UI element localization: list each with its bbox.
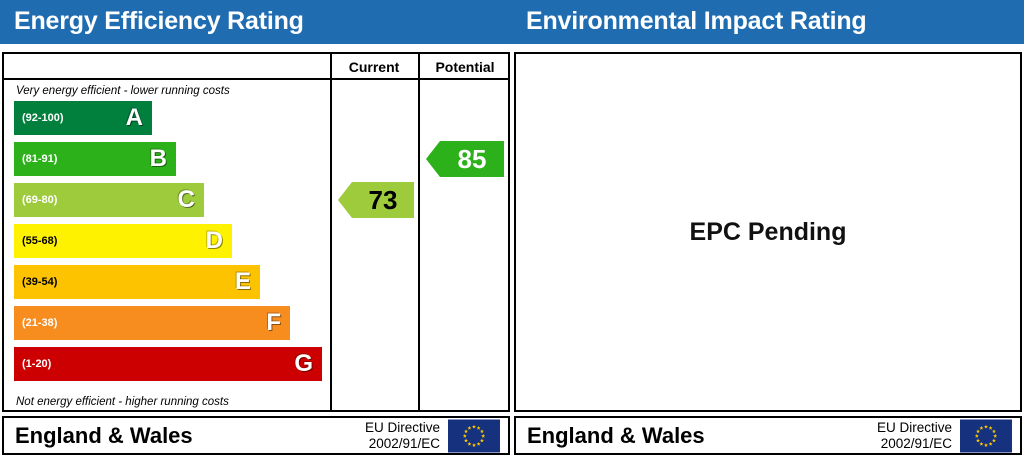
- rating-band-e: (39-54)E: [14, 265, 260, 299]
- directive-line-2: 2002/91/EC: [877, 436, 952, 452]
- environmental-panel-title: Environmental Impact Rating: [526, 7, 867, 36]
- band-range-d: (55-68): [22, 235, 57, 247]
- environmental-title-bar: Environmental Impact Rating: [512, 0, 1024, 44]
- directive-line-2: 2002/91/EC: [365, 436, 440, 452]
- rating-value-current: 73: [355, 187, 398, 213]
- footer-region-label: England & Wales: [527, 423, 705, 449]
- eu-flag-icon: [448, 419, 500, 452]
- footer-directive-label: EU Directive 2002/91/EC: [365, 420, 440, 452]
- footer-directive-label: EU Directive 2002/91/EC: [877, 420, 952, 452]
- eu-flag-icon: [960, 419, 1012, 452]
- column-divider-current: [330, 54, 332, 410]
- rating-band-d: (55-68)D: [14, 224, 232, 258]
- energy-panel-title: Energy Efficiency Rating: [14, 7, 304, 36]
- rating-band-g: (1-20)G: [14, 347, 322, 381]
- caption-very-efficient: Very energy efficient - lower running co…: [16, 85, 230, 97]
- rating-value-potential: 85: [444, 146, 487, 172]
- band-range-a: (92-100): [22, 112, 64, 124]
- band-range-c: (69-80): [22, 194, 57, 206]
- rating-band-f: (21-38)F: [14, 306, 290, 340]
- directive-line-1: EU Directive: [365, 420, 440, 436]
- band-letter-b: B: [150, 147, 167, 171]
- column-header-potential: Potential: [418, 57, 512, 77]
- rating-band-b: (81-91)B: [14, 142, 176, 176]
- band-range-g: (1-20): [22, 358, 51, 370]
- environmental-rating-chart: EPC Pending: [514, 52, 1022, 412]
- rating-band-a: (92-100)A: [14, 101, 152, 135]
- band-range-e: (39-54): [22, 276, 57, 288]
- environmental-footer: England & Wales EU Directive 2002/91/EC: [514, 416, 1022, 455]
- band-letter-a: A: [126, 106, 143, 130]
- rating-marker-potential: 85: [426, 141, 504, 177]
- caption-not-efficient: Not energy efficient - higher running co…: [16, 396, 229, 408]
- band-range-f: (21-38): [22, 317, 57, 329]
- band-range-b: (81-91): [22, 153, 57, 165]
- band-letter-f: F: [266, 311, 281, 335]
- rating-marker-current: 73: [338, 182, 414, 218]
- epc-certificate: Energy Efficiency Rating Current Potenti…: [0, 0, 1024, 457]
- column-divider-potential: [418, 54, 420, 410]
- directive-line-1: EU Directive: [877, 420, 952, 436]
- energy-rating-chart: Current Potential Very energy efficient …: [2, 52, 510, 412]
- band-letter-c: C: [178, 188, 195, 212]
- environmental-impact-panel: Environmental Impact Rating EPC Pending …: [512, 0, 1024, 457]
- column-header-current: Current: [330, 57, 418, 77]
- rating-band-c: (69-80)C: [14, 183, 204, 217]
- epc-pending-message: EPC Pending: [516, 54, 1020, 410]
- energy-footer: England & Wales EU Directive 2002/91/EC: [2, 416, 510, 455]
- band-letter-e: E: [235, 270, 251, 294]
- energy-efficiency-panel: Energy Efficiency Rating Current Potenti…: [0, 0, 512, 457]
- energy-title-bar: Energy Efficiency Rating: [0, 0, 512, 44]
- footer-region-label: England & Wales: [15, 423, 193, 449]
- band-letter-d: D: [206, 229, 223, 253]
- band-letter-g: G: [294, 352, 313, 376]
